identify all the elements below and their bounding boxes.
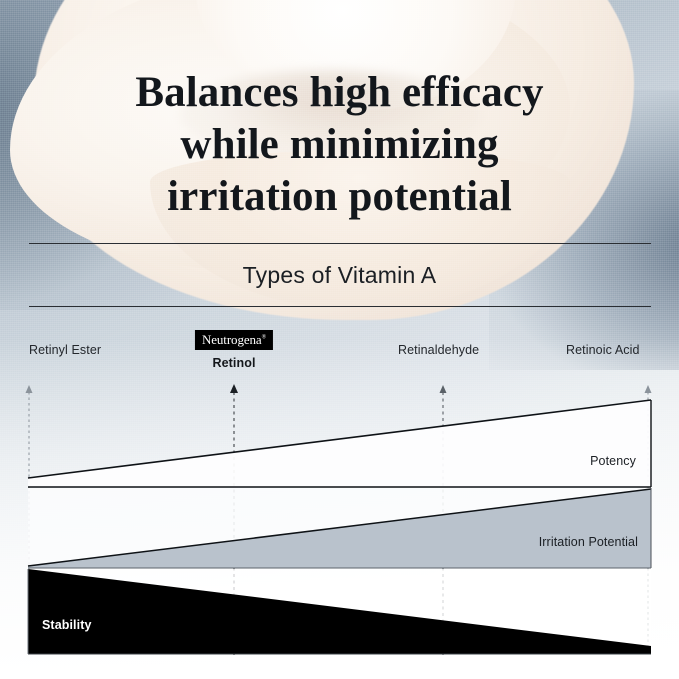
- category-label-retinoic-acid: Retinoic Acid: [566, 343, 640, 357]
- neutrogena-logo-badge: Neutrogena®: [195, 330, 273, 350]
- section-title: Types of Vitamin A: [0, 262, 679, 289]
- divider-rule-top: [29, 243, 651, 244]
- headline-line-1: Balances high efficacy: [0, 67, 679, 119]
- brand-name-text: Neutrogena: [202, 332, 262, 347]
- registered-trademark-icon: ®: [262, 335, 266, 341]
- category-label-retinol: Retinol: [195, 356, 273, 370]
- infographic-poster: Balances high efficacy while minimizing …: [0, 0, 679, 679]
- page-headline: Balances high efficacy while minimizing …: [0, 67, 679, 223]
- brand-marker-retinol: Neutrogena® Retinol: [195, 330, 273, 370]
- divider-rule-bottom: [29, 306, 651, 307]
- headline-line-2: while minimizing: [0, 119, 679, 171]
- category-label-retinaldehyde: Retinaldehyde: [398, 343, 479, 357]
- headline-line-3: irritation potential: [0, 171, 679, 223]
- category-label-retinyl-ester: Retinyl Ester: [29, 343, 101, 357]
